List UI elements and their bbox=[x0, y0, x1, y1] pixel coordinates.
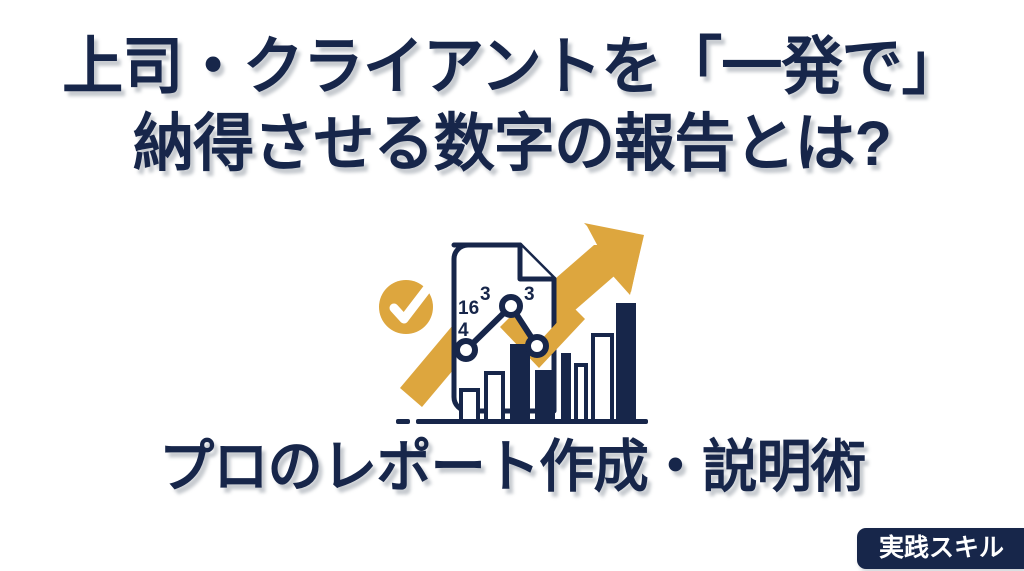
chart-baseline bbox=[396, 419, 648, 424]
bar-1 bbox=[461, 390, 478, 422]
bar-8 bbox=[616, 303, 636, 422]
slide-canvas: 上司・クライアントを「一発で」 納得させる数字の報告とは? bbox=[0, 0, 1024, 571]
bar-2 bbox=[486, 373, 503, 422]
bar-5 bbox=[561, 353, 571, 422]
doc-number-4: 3 bbox=[524, 284, 535, 305]
headline-line-2: 納得させる数字の報告とは? bbox=[15, 113, 1008, 176]
status-badge: 実践スキル bbox=[857, 528, 1024, 569]
doc-number-1: 3 bbox=[480, 284, 491, 305]
report-growth-illustration: 3 16 4 3 bbox=[358, 213, 674, 433]
bar-7 bbox=[593, 335, 612, 422]
subtitle-text: プロのレポート作成・説明術 bbox=[15, 439, 1008, 496]
doc-number-3: 4 bbox=[458, 320, 469, 341]
bar-3 bbox=[510, 344, 530, 422]
check-circle-icon bbox=[379, 280, 433, 334]
bar-4 bbox=[535, 370, 555, 422]
doc-number-2: 16 bbox=[458, 298, 479, 319]
headline-line-1: 上司・クライアントを「一発で」 bbox=[15, 36, 1008, 99]
bar-6 bbox=[576, 365, 586, 422]
subtitle: プロのレポート作成・説明術 bbox=[0, 439, 1024, 496]
page-title: 上司・クライアントを「一発で」 納得させる数字の報告とは? bbox=[0, 36, 1024, 176]
